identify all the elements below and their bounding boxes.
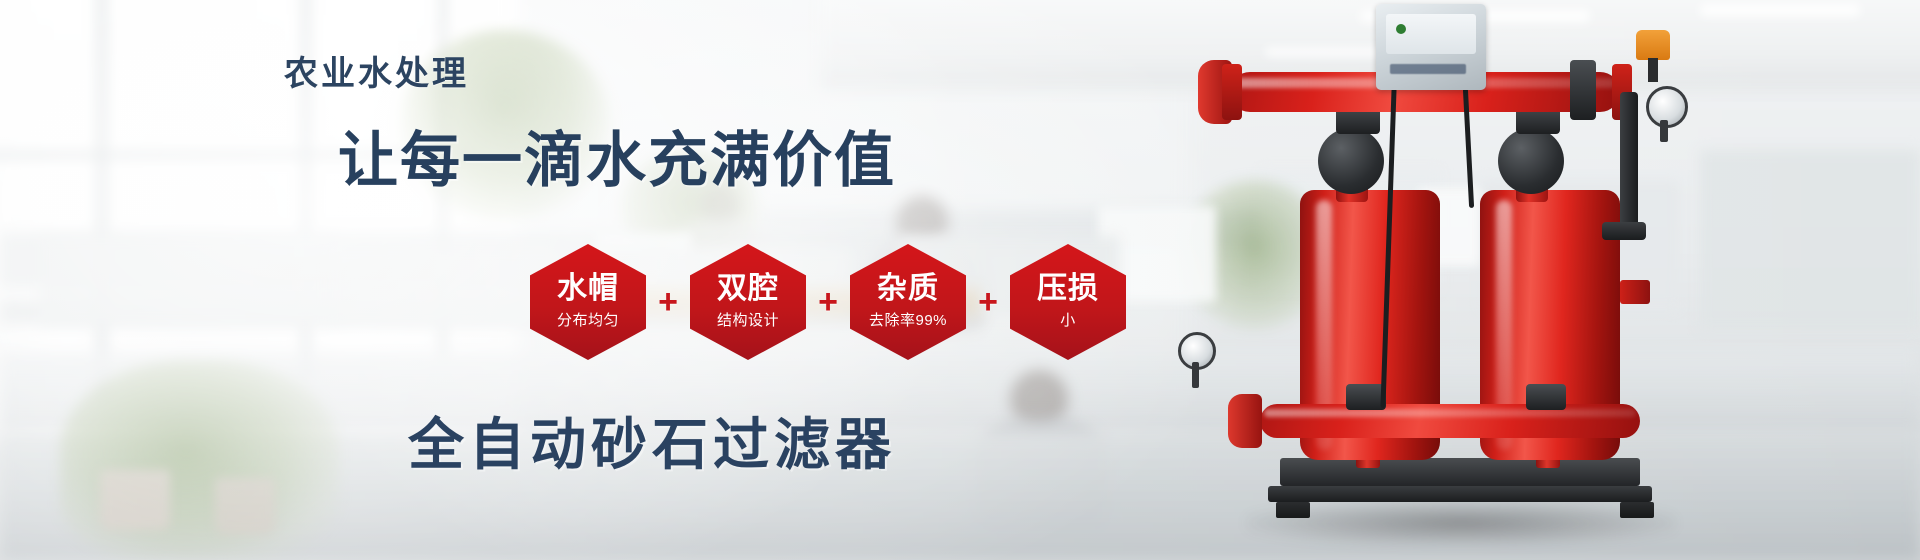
side-valve-body	[1570, 60, 1596, 120]
tank-outlet	[1620, 280, 1650, 304]
controller-display	[1386, 14, 1476, 54]
feature-badge-row: 水帽 分布均匀 + 双腔 结构设计 + 杂质 去除率99% + 压损 小	[530, 244, 1126, 360]
side-pipe	[1620, 92, 1638, 232]
feature-badge-2-subtitle: 结构设计	[717, 309, 779, 330]
gauge-stem	[1192, 362, 1199, 388]
manifold-outlet-bell	[1228, 394, 1262, 448]
tank-valve-hub	[1498, 128, 1564, 194]
product-shadow	[1246, 500, 1676, 546]
manifold-highlight	[1264, 409, 1636, 417]
banner-eyebrow: 农业水处理	[284, 46, 469, 95]
feature-badge-2: 双腔 结构设计	[690, 244, 806, 360]
controller-brand-label	[1390, 64, 1466, 74]
product-sand-filter	[1150, 0, 1770, 560]
machine-base-plate	[1280, 458, 1640, 486]
banner-text-block: 农业水处理 让每一滴水充满价值 水帽 分布均匀 + 双腔 结构设计 + 杂质 去…	[0, 0, 1150, 560]
feature-badge-3-title: 杂质	[877, 274, 939, 305]
banner-product-title: 全自动砂石过滤器	[408, 400, 896, 481]
feature-badge-4-subtitle: 小	[1060, 309, 1076, 330]
pipe-flange	[1222, 64, 1242, 120]
banner-headline: 让每一滴水充满价值	[338, 112, 896, 199]
feature-badge-4-title: 压损	[1037, 274, 1099, 305]
feature-badge-1-subtitle: 分布均匀	[557, 309, 619, 330]
bottom-valve-body	[1526, 384, 1566, 410]
plus-separator-icon: +	[646, 285, 690, 319]
tank-valve-hub	[1318, 128, 1384, 194]
feature-badge-3: 杂质 去除率99%	[850, 244, 966, 360]
plus-separator-icon: +	[806, 285, 850, 319]
relief-valve-icon	[1636, 30, 1670, 60]
feature-badge-4: 压损 小	[1010, 244, 1126, 360]
controller-led-icon	[1396, 24, 1406, 34]
machine-base-bar	[1268, 486, 1652, 502]
feature-badge-1-title: 水帽	[557, 274, 619, 305]
plus-separator-icon: +	[966, 285, 1010, 319]
relief-valve-stem	[1648, 58, 1658, 82]
gauge-stem	[1660, 120, 1668, 142]
machine-foot	[1276, 502, 1310, 518]
feature-badge-3-subtitle: 去除率99%	[869, 309, 947, 330]
machine-foot	[1620, 502, 1654, 518]
feature-badge-2-title: 双腔	[717, 274, 779, 305]
side-elbow	[1602, 222, 1646, 240]
feature-badge-1: 水帽 分布均匀	[530, 244, 646, 360]
promo-banner: 农业水处理 让每一滴水充满价值 水帽 分布均匀 + 双腔 结构设计 + 杂质 去…	[0, 0, 1920, 560]
